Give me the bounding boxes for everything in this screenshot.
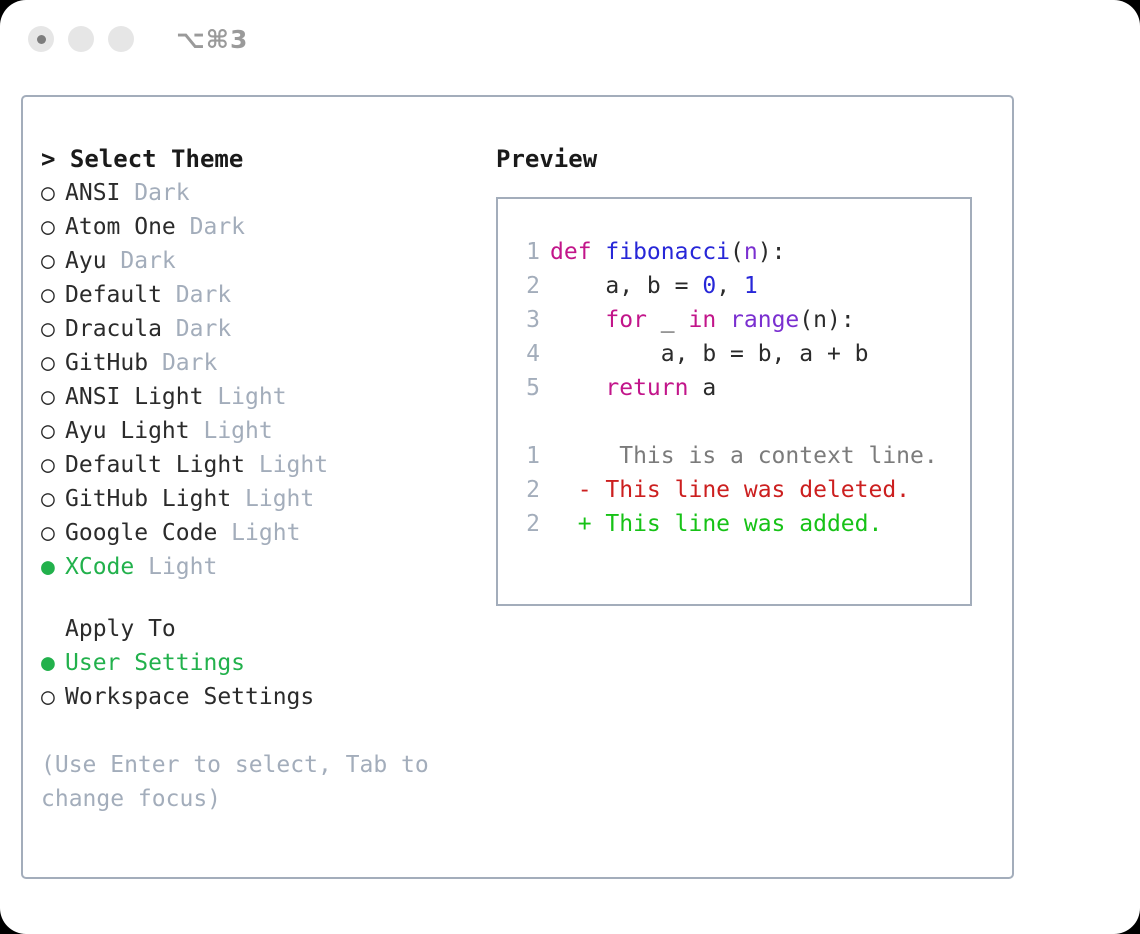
- theme-option-dracula[interactable]: ○Dracula Dark: [41, 312, 496, 346]
- code-token: ,: [716, 273, 744, 299]
- code-line: 4 a, b = b, a + b: [516, 337, 970, 371]
- theme-option-label: Ayu Light: [65, 418, 190, 444]
- theme-option-label: ANSI Light: [65, 384, 203, 410]
- diff-text: This line was added.: [592, 511, 883, 537]
- theme-option-label: Atom One: [65, 214, 176, 240]
- code-token: [550, 307, 605, 333]
- traffic-light-dot-icon: [37, 35, 46, 44]
- traffic-light-maximize[interactable]: [108, 26, 134, 52]
- code-token: a: [688, 375, 716, 401]
- code-token: in: [688, 307, 716, 333]
- apply-to-label: Apply To: [41, 612, 496, 646]
- title-bar: ⌥⌘3: [0, 0, 1140, 78]
- theme-option-label: Ayu: [65, 248, 107, 274]
- code-token: return: [605, 375, 688, 401]
- apply-to-option-label: User Settings: [65, 650, 245, 676]
- diff-line-number: 2: [516, 507, 540, 541]
- radio-unselected-icon: ○: [41, 414, 65, 448]
- theme-option-default[interactable]: ○Default Dark: [41, 278, 496, 312]
- theme-option-variant: Dark: [162, 282, 231, 308]
- page-title: > Select Theme: [41, 142, 496, 176]
- theme-option-atom-one[interactable]: ○Atom One Dark: [41, 210, 496, 244]
- main-panel: > Select Theme ○ANSI Dark○Atom One Dark○…: [21, 95, 1014, 879]
- code-token: n: [744, 239, 758, 265]
- apply-to-option-workspace-settings[interactable]: ○Workspace Settings: [41, 680, 496, 714]
- theme-picker-column: > Select Theme ○ANSI Dark○Atom One Dark○…: [41, 142, 496, 816]
- radio-unselected-icon: ○: [41, 278, 65, 312]
- radio-unselected-icon: ○: [41, 448, 65, 482]
- theme-option-github[interactable]: ○GitHub Dark: [41, 346, 496, 380]
- radio-unselected-icon: ○: [41, 176, 65, 210]
- code-token: [716, 307, 730, 333]
- line-number: 4: [516, 337, 540, 371]
- diff-marker: -: [550, 477, 592, 503]
- theme-option-label: Dracula: [65, 316, 162, 342]
- theme-option-label: XCode: [65, 554, 134, 580]
- code-diff-separator: [516, 405, 970, 439]
- radio-unselected-icon: ○: [41, 680, 65, 714]
- line-number: 1: [516, 235, 540, 269]
- apply-to-option-list: ●User Settings○Workspace Settings: [41, 646, 496, 714]
- keyboard-hint: (Use Enter to select, Tab to change focu…: [41, 748, 461, 816]
- theme-option-ayu-light[interactable]: ○Ayu Light Light: [41, 414, 496, 448]
- diff-sample: 1 This is a context line.2 - This line w…: [516, 439, 970, 541]
- diff-marker: [550, 443, 592, 469]
- theme-option-label: Default Light: [65, 452, 245, 478]
- diff-text: This line was deleted.: [592, 477, 911, 503]
- code-token: def: [550, 239, 605, 265]
- diff-line: 2 + This line was added.: [516, 507, 970, 541]
- diff-line-number: 1: [516, 439, 540, 473]
- diff-line-number: 2: [516, 473, 540, 507]
- line-number: 5: [516, 371, 540, 405]
- theme-option-label: GitHub: [65, 350, 148, 376]
- theme-option-ansi[interactable]: ○ANSI Dark: [41, 176, 496, 210]
- diff-line: 2 - This line was deleted.: [516, 473, 970, 507]
- code-sample: 1def fibonacci(n):2 a, b = 0, 13 for _ i…: [516, 235, 970, 405]
- diff-line: 1 This is a context line.: [516, 439, 970, 473]
- radio-unselected-icon: ○: [41, 312, 65, 346]
- theme-option-label: Google Code: [65, 520, 217, 546]
- line-number: 3: [516, 303, 540, 337]
- code-token: _: [647, 307, 689, 333]
- theme-option-variant: Light: [245, 452, 328, 478]
- footnote-spacer: [41, 714, 496, 748]
- theme-option-variant: Dark: [148, 350, 217, 376]
- preview-box: 1def fibonacci(n):2 a, b = 0, 13 for _ i…: [496, 197, 972, 606]
- radio-unselected-icon: ○: [41, 516, 65, 550]
- diff-text: This is a context line.: [592, 443, 938, 469]
- code-line: 3 for _ in range(n):: [516, 303, 970, 337]
- theme-option-variant: Light: [203, 384, 286, 410]
- theme-option-variant: Light: [217, 520, 300, 546]
- code-line: 2 a, b = 0, 1: [516, 269, 970, 303]
- theme-option-variant: Light: [134, 554, 217, 580]
- apply-to-option-label: Workspace Settings: [65, 684, 314, 710]
- theme-option-label: GitHub Light: [65, 486, 231, 512]
- code-token: a, b =: [550, 273, 702, 299]
- section-spacer: [41, 584, 496, 612]
- theme-option-list: ○ANSI Dark○Atom One Dark○Ayu Dark○Defaul…: [41, 176, 496, 584]
- theme-option-google-code[interactable]: ○Google Code Light: [41, 516, 496, 550]
- code-token: fibonacci: [605, 239, 730, 265]
- theme-option-variant: Light: [231, 486, 314, 512]
- line-number: 2: [516, 269, 540, 303]
- code-token: [550, 375, 605, 401]
- diff-marker: +: [550, 511, 592, 537]
- code-token: a, b = b, a + b: [550, 341, 869, 367]
- apply-to-option-user-settings[interactable]: ●User Settings: [41, 646, 496, 680]
- keyboard-shortcut-label: ⌥⌘3: [176, 25, 248, 54]
- radio-unselected-icon: ○: [41, 380, 65, 414]
- theme-option-variant: Dark: [120, 180, 189, 206]
- radio-unselected-icon: ○: [41, 210, 65, 244]
- theme-option-label: ANSI: [65, 180, 120, 206]
- code-line: 1def fibonacci(n):: [516, 235, 970, 269]
- theme-option-ansi-light[interactable]: ○ANSI Light Light: [41, 380, 496, 414]
- code-token: (: [730, 239, 744, 265]
- code-token: 1: [744, 273, 758, 299]
- theme-option-github-light[interactable]: ○GitHub Light Light: [41, 482, 496, 516]
- theme-option-xcode[interactable]: ●XCode Light: [41, 550, 496, 584]
- radio-selected-icon: ●: [41, 550, 65, 584]
- code-token: 0: [702, 273, 716, 299]
- theme-option-variant: Light: [190, 418, 273, 444]
- app-window: ⌥⌘3 > Select Theme ○ANSI Dark○Atom One D…: [0, 0, 1140, 934]
- theme-option-ayu[interactable]: ○Ayu Dark: [41, 244, 496, 278]
- radio-unselected-icon: ○: [41, 482, 65, 516]
- preview-title: Preview: [496, 142, 1012, 176]
- code-token: for: [605, 307, 647, 333]
- theme-option-default-light[interactable]: ○Default Light Light: [41, 448, 496, 482]
- traffic-light-close[interactable]: [28, 26, 54, 52]
- radio-selected-icon: ●: [41, 646, 65, 680]
- theme-option-variant: Dark: [162, 316, 231, 342]
- code-token: ):: [758, 239, 786, 265]
- code-line: 5 return a: [516, 371, 970, 405]
- preview-column: Preview 1def fibonacci(n):2 a, b = 0, 13…: [496, 142, 1012, 816]
- radio-unselected-icon: ○: [41, 346, 65, 380]
- radio-unselected-icon: ○: [41, 244, 65, 278]
- theme-option-variant: Dark: [107, 248, 176, 274]
- code-token: (n):: [799, 307, 854, 333]
- traffic-light-minimize[interactable]: [68, 26, 94, 52]
- theme-option-label: Default: [65, 282, 162, 308]
- theme-option-variant: Dark: [176, 214, 245, 240]
- code-token: range: [730, 307, 799, 333]
